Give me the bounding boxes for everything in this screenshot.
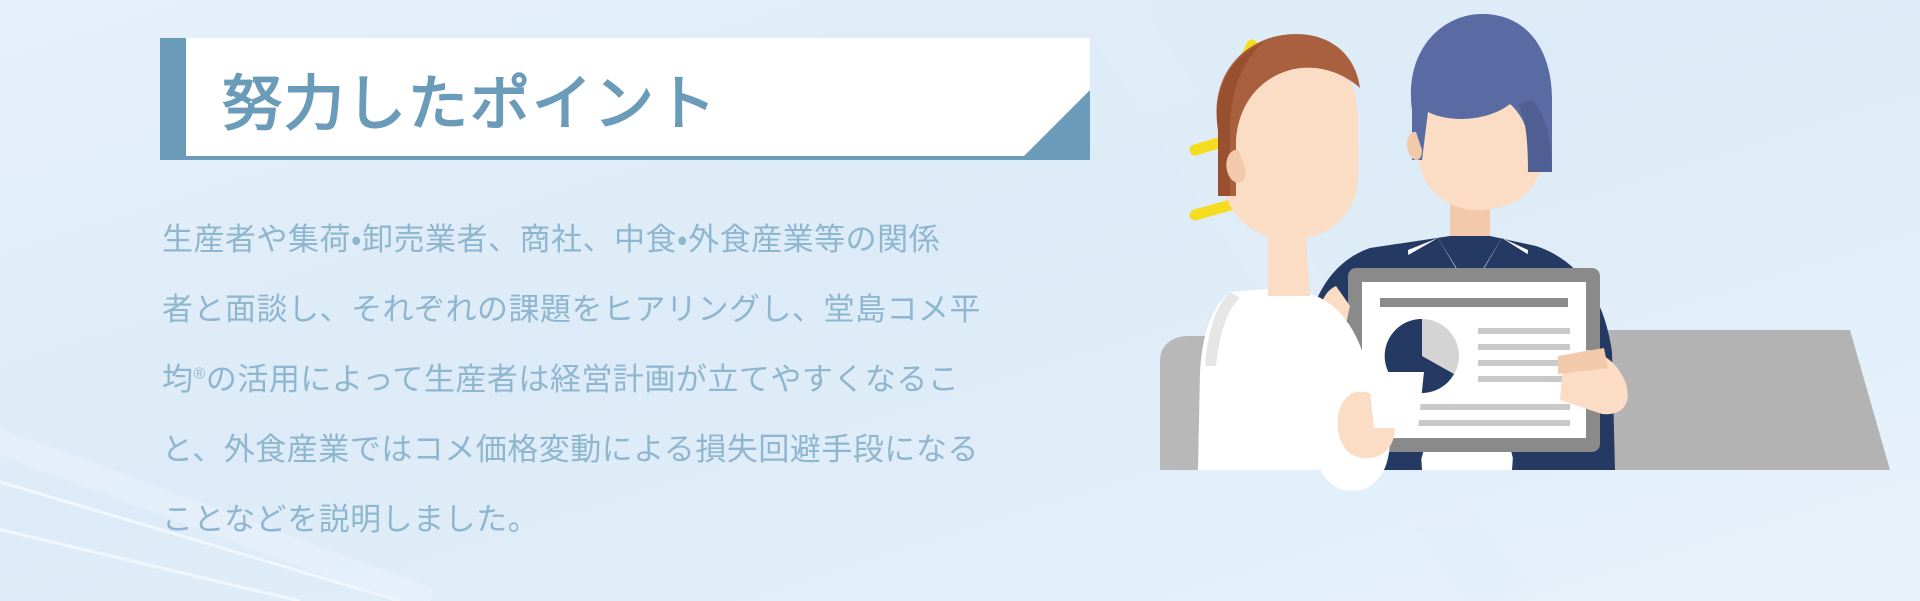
body-line-2: 者と面談し、それぞれの課題をヒアリングし、堂島コメ平 (162, 275, 1102, 345)
meeting-illustration (1160, 0, 1920, 601)
body-line-3-text: 均®の活用によって生産者は経営計画が立てやすくなるこ (162, 362, 959, 397)
hero-section: 努力したポイント 生産者や集荷・卸売業者、商社、中食・外食産業等の関係 者と面談… (0, 0, 1920, 601)
body-line-3: 均®の活用によって生産者は経営計画が立てやすくなるこ (162, 345, 1102, 415)
registered-trademark-mark: ® (194, 365, 206, 383)
body-line-5: ことなどを説明しました。 (162, 485, 1102, 555)
banner-accent-bar (160, 38, 186, 160)
banner-fold-corner-icon (1024, 90, 1090, 156)
tablet-heading-bar (1380, 298, 1568, 307)
body-copy: 生産者や集荷・卸売業者、商社、中食・外食産業等の関係 者と面談し、それぞれの課題… (162, 205, 1102, 555)
body-line-4: と、外食産業ではコメ価格変動による損失回避手段になる (162, 415, 1102, 485)
banner: 努力したポイント (160, 38, 1090, 160)
body-line-1: 生産者や集荷・卸売業者、商社、中食・外食産業等の関係 (162, 205, 1102, 275)
page-title: 努力したポイント (222, 56, 718, 143)
paper-cup (1368, 372, 1424, 428)
